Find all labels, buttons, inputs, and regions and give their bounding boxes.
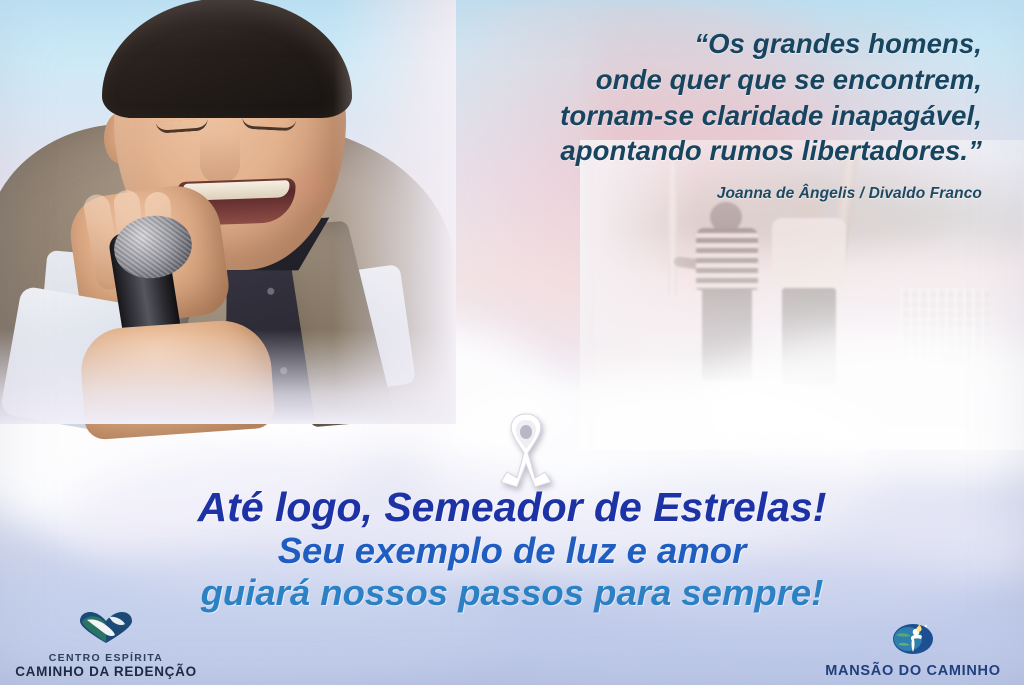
globe-figure-flame-logo-icon xyxy=(808,619,1018,660)
photo-person-white-shirt xyxy=(772,190,846,380)
logo-mansao-do-caminho: MANSÃO DO CAMINHO xyxy=(808,619,1018,679)
quote-line-4: apontando rumos libertadores.” xyxy=(422,133,982,169)
heart-hands-logo-icon xyxy=(6,612,206,649)
logo-left-line-2: CAMINHO DA REDENÇÃO xyxy=(6,664,206,679)
headline-block: Até logo, Semeador de Estrelas! Seu exem… xyxy=(0,486,1024,613)
portrait-hair xyxy=(102,0,352,118)
photo-fence xyxy=(900,288,990,360)
logo-right-line-1: MANSÃO DO CAMINHO xyxy=(808,663,1018,679)
portrait-photo xyxy=(0,0,456,424)
tribute-card: “Os grandes homens, onde quer que se enc… xyxy=(0,0,1024,685)
quote-line-3: tornam-se claridade inapagável, xyxy=(422,98,982,134)
headline-line-1: Até logo, Semeador de Estrelas! xyxy=(0,486,1024,529)
logo-centro-espirita-caminho-da-redencao: CENTRO ESPÍRITA CAMINHO DA REDENÇÃO xyxy=(6,612,206,679)
quote-line-1: “Os grandes homens, xyxy=(422,26,982,62)
portrait-hand-holding-microphone xyxy=(78,318,275,441)
quote-block: “Os grandes homens, onde quer que se enc… xyxy=(422,26,982,204)
headline-line-3: guiará nossos passos para sempre! xyxy=(0,574,1024,613)
portrait-nose xyxy=(200,134,240,184)
white-ribbon-icon xyxy=(487,408,565,488)
logo-left-line-1: CENTRO ESPÍRITA xyxy=(6,652,206,664)
quote-attribution: Joanna de Ângelis / Divaldo Franco xyxy=(422,184,982,204)
headline-line-2: Seu exemplo de luz e amor xyxy=(0,532,1024,571)
quote-line-2: onde quer que se encontrem, xyxy=(422,62,982,98)
photo-person-striped-shirt xyxy=(696,202,758,378)
